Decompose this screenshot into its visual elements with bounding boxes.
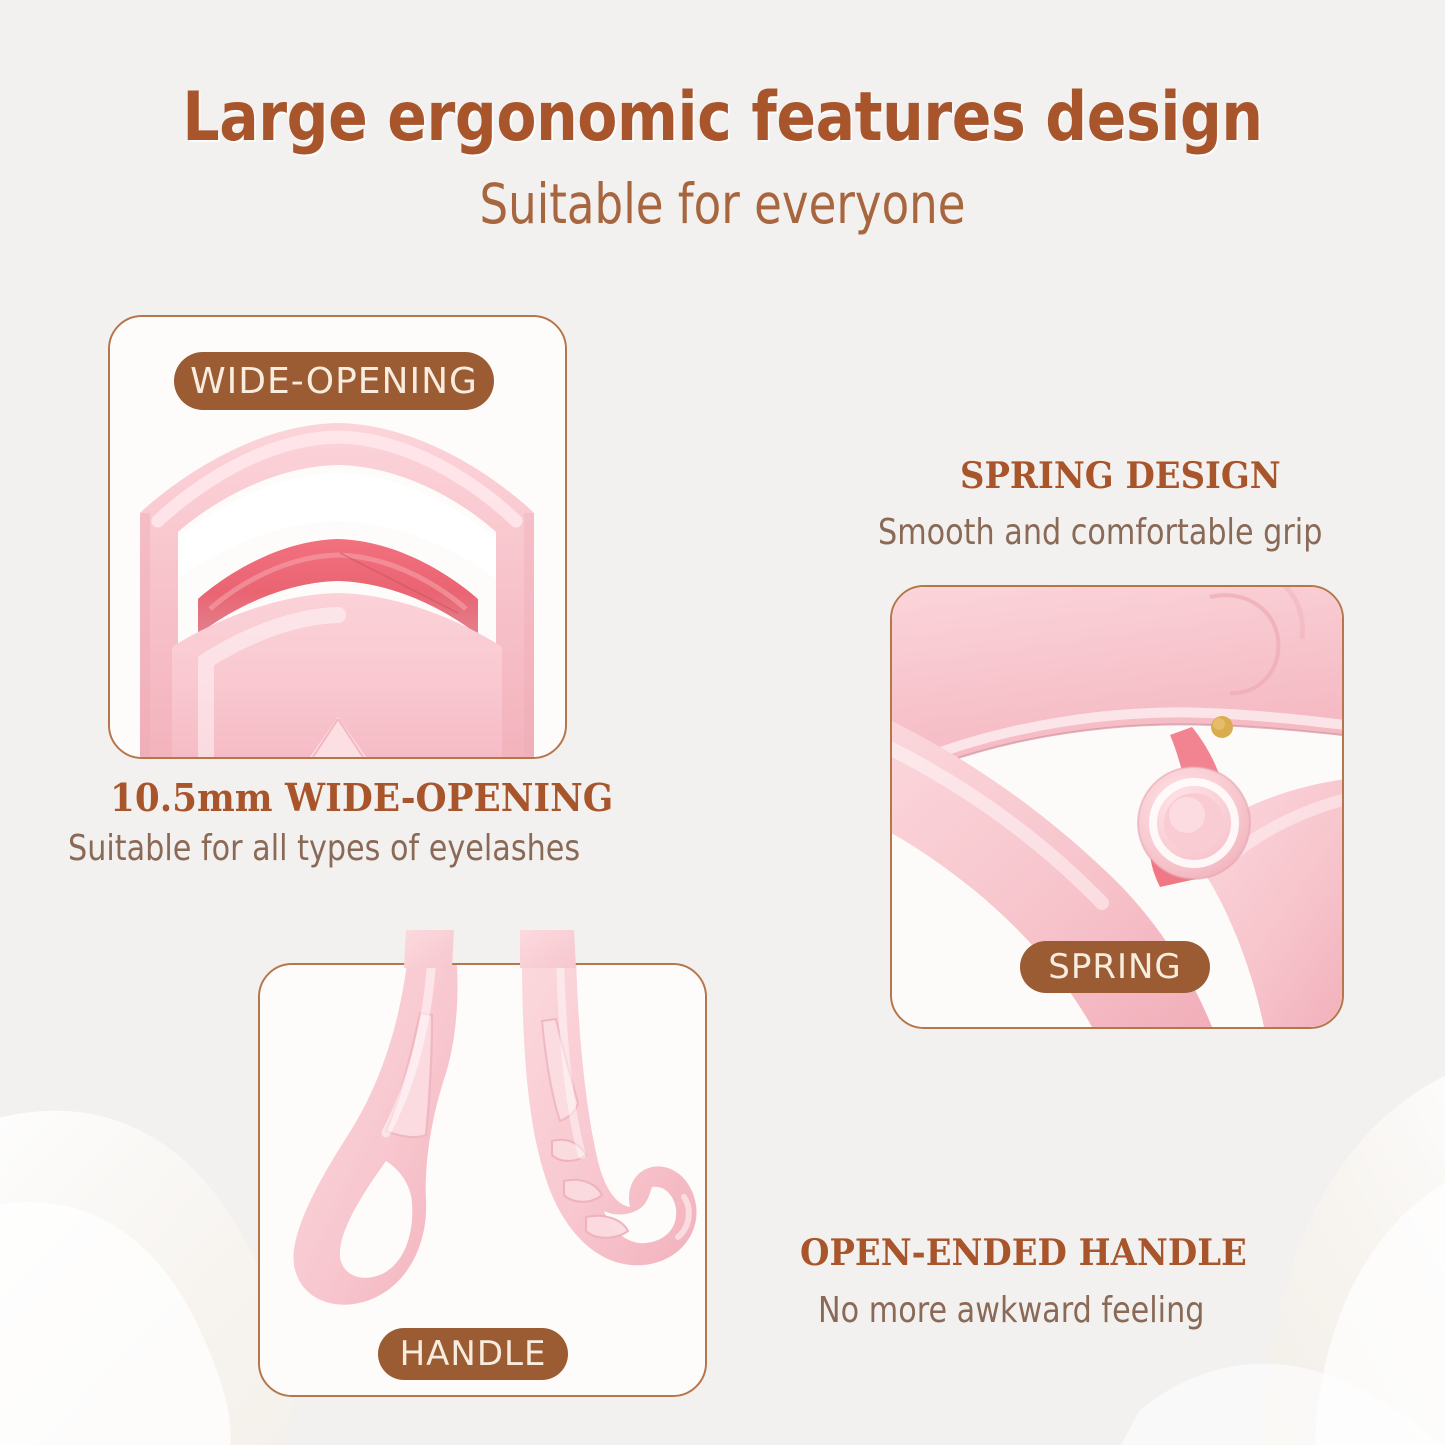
caption-sub-handle: No more awkward feeling — [818, 1290, 1204, 1331]
caption-sub-wide-opening: Suitable for all types of eyelashes — [68, 828, 580, 869]
caption-heading-wide-opening: 10.5mm WIDE-OPENING — [110, 775, 613, 820]
caption-sub-spring: Smooth and comfortable grip — [878, 512, 1322, 553]
page-title: Large ergonomic features design — [101, 78, 1344, 157]
caption-heading-spring: SPRING DESIGN — [960, 455, 1281, 497]
badge-handle: HANDLE — [378, 1328, 568, 1380]
infographic-canvas: Large ergonomic features design Suitable… — [0, 0, 1445, 1445]
badge-wide-opening: WIDE-OPENING — [174, 352, 494, 410]
badge-spring: SPRING — [1020, 941, 1210, 993]
caption-heading-handle: OPEN-ENDED HANDLE — [800, 1232, 1247, 1274]
page-subtitle: Suitable for everyone — [130, 172, 1315, 236]
